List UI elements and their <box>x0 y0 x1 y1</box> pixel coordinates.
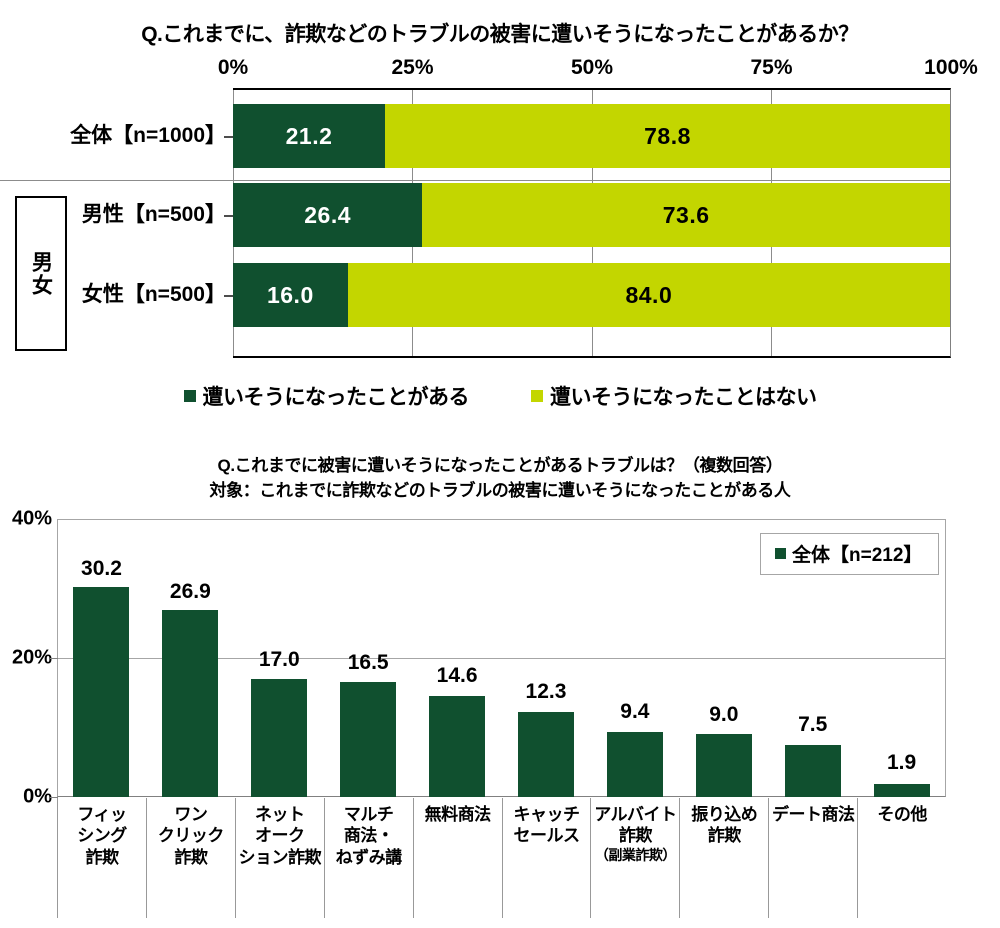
cat-line: ション詐欺 <box>236 847 324 868</box>
cat-line: 詐欺 <box>680 825 768 846</box>
cat-line: オーク <box>236 825 324 846</box>
bar-segment-female-yes: 16.0 <box>233 263 348 327</box>
category-label-part-time-job-scam: アルバイト 詐欺 （副業詐欺） <box>590 798 679 918</box>
bar-chart-trouble-types: Q.これまでに被害に遭いそうになったことがあるトラブルは？（複数回答） 対象：こ… <box>0 430 1000 928</box>
bar-value-label: 16.5 <box>348 651 389 675</box>
chart2-y-axis-labels: 40% 20% 0% <box>0 519 53 797</box>
cat-line: その他 <box>858 804 946 825</box>
bar-column-part-time-job-scam: 9.4 <box>590 519 679 797</box>
bar-segment-total-no: 78.8 <box>385 104 950 168</box>
cat-line: キャッチ <box>503 804 591 825</box>
bar-one-click <box>162 610 218 797</box>
chart2-subtitle: 対象：これまでに詐欺などのトラブルの被害に遭いそうになったことがある人 <box>0 479 1000 504</box>
bar-bank-transfer-scam <box>696 734 752 797</box>
category-label-date-sales: デート商法 <box>768 798 857 918</box>
bar-value-label: 1.9 <box>887 751 916 775</box>
gender-group-label: 男女 <box>31 251 52 297</box>
chart2-category-axis: フィッ シング 詐欺 ワン クリック 詐欺 ネット オーク ション詐欺 マルチ … <box>57 798 946 918</box>
cat-line: ネット <box>236 804 324 825</box>
bar-catch-sales <box>518 712 574 798</box>
bar-multi-level <box>340 682 396 797</box>
chart1-plot-area: 21.2 78.8 26.4 73.6 16.0 84.0 <box>233 88 951 358</box>
bar-column-net-auction: 17.0 <box>235 519 324 797</box>
chart2-legend: 全体【n=212】 <box>760 533 939 575</box>
category-label-bank-transfer-scam: 振り込め 詐欺 <box>679 798 768 918</box>
category-label-other: その他 <box>857 798 946 918</box>
category-label-phishing: フィッ シング 詐欺 <box>57 798 146 918</box>
cat-line-sub: （副業詐欺） <box>591 847 679 865</box>
legend-label-no: 遭いそうになったことはない <box>550 381 817 411</box>
cat-line: ワン <box>147 804 235 825</box>
bar-value-label: 9.0 <box>709 703 738 727</box>
bar-free-offer <box>429 696 485 798</box>
stacked-bar-chart-gender: Q.これまでに、詐欺などのトラブルの被害に遭いそうになったことがあるか？ 0% … <box>0 0 1000 430</box>
cat-line: 商法・ <box>325 825 413 846</box>
bar-value-label: 12.3 <box>526 680 567 704</box>
legend-swatch-no-icon <box>531 390 543 402</box>
bar-column-free-offer: 14.6 <box>413 519 502 797</box>
bar-row-total: 21.2 78.8 <box>233 104 950 168</box>
bar-segment-female-no: 84.0 <box>348 263 950 327</box>
cat-line: 詐欺 <box>147 847 235 868</box>
bar-column-multi-level: 16.5 <box>324 519 413 797</box>
bar-column-one-click: 26.9 <box>146 519 235 797</box>
bar-value-label: 7.5 <box>798 713 827 737</box>
category-label-free-offer: 無料商法 <box>413 798 502 918</box>
x-tick-label-25: 25% <box>391 56 433 80</box>
legend-item-no: 遭いそうになったことはない <box>531 381 817 411</box>
x-tick-label-100: 100% <box>924 56 978 80</box>
bar-row-female: 16.0 84.0 <box>233 263 950 327</box>
legend-label-yes: 遭いそうになったことがある <box>203 381 470 411</box>
cat-line: クリック <box>147 825 235 846</box>
chart2-title: Q.これまでに被害に遭いそうになったことがあるトラブルは？（複数回答） <box>0 454 1000 479</box>
cat-line: ねずみ講 <box>325 847 413 868</box>
cat-line: マルチ <box>325 804 413 825</box>
group-separator-line <box>0 180 951 181</box>
category-label-net-auction: ネット オーク ション詐欺 <box>235 798 324 918</box>
cat-line: 振り込め <box>680 804 768 825</box>
x-tick-label-50: 50% <box>571 56 613 80</box>
legend-label-total: 全体【n=212】 <box>792 540 922 567</box>
bar-segment-total-yes: 21.2 <box>233 104 385 168</box>
gender-group-box: 男女 <box>15 196 67 351</box>
y-tick-label-20: 20% <box>12 647 52 670</box>
bar-value-label: 30.2 <box>81 557 122 581</box>
bar-date-sales <box>785 745 841 797</box>
bar-column-catch-sales: 12.3 <box>502 519 591 797</box>
category-label-catch-sales: キャッチ セールス <box>502 798 591 918</box>
cat-line: 無料商法 <box>414 804 502 825</box>
bar-value-label: 17.0 <box>259 648 300 672</box>
row-label-total: 全体【n=1000】 <box>70 119 226 149</box>
bar-net-auction <box>251 679 307 797</box>
chart2-title-block: Q.これまでに被害に遭いそうになったことがあるトラブルは？（複数回答） 対象：こ… <box>0 454 1000 503</box>
bar-other <box>874 784 930 797</box>
cat-line: セールス <box>503 825 591 846</box>
chart1-title: Q.これまでに、詐欺などのトラブルの被害に遭いそうになったことがあるか？ <box>0 18 1000 48</box>
legend-swatch-yes-icon <box>184 390 196 402</box>
x-tick-label-75: 75% <box>750 56 792 80</box>
row-label-male: 男性【n=500】 <box>82 198 226 228</box>
cat-line: アルバイト <box>591 804 679 825</box>
chart1-x-axis-labels: 0% 25% 50% 75% 100% <box>233 56 951 82</box>
bar-value-label: 9.4 <box>620 700 649 724</box>
category-label-multi-level: マルチ 商法・ ねずみ講 <box>324 798 413 918</box>
bar-column-bank-transfer-scam: 9.0 <box>679 519 768 797</box>
legend-swatch-icon <box>775 548 786 559</box>
bar-phishing <box>73 587 129 797</box>
bar-part-time-job-scam <box>607 732 663 797</box>
y-tick-label-40: 40% <box>12 508 52 531</box>
bar-segment-male-yes: 26.4 <box>233 183 422 247</box>
cat-line: デート商法 <box>769 804 857 825</box>
bar-value-label: 26.9 <box>170 580 211 604</box>
row-label-female: 女性【n=500】 <box>82 278 226 308</box>
y-tick-label-0: 0% <box>23 786 52 809</box>
bar-column-phishing: 30.2 <box>57 519 146 797</box>
category-label-one-click: ワン クリック 詐欺 <box>146 798 235 918</box>
bar-value-label: 14.6 <box>437 664 478 688</box>
bar-segment-male-no: 73.6 <box>422 183 950 247</box>
cat-line: フィッ <box>58 804 146 825</box>
x-tick-label-0: 0% <box>218 56 248 80</box>
bar-row-male: 26.4 73.6 <box>233 183 950 247</box>
cat-line: シング <box>58 825 146 846</box>
legend-item-yes: 遭いそうになったことがある <box>184 381 470 411</box>
chart1-legend: 遭いそうになったことがある 遭いそうになったことはない <box>0 381 1000 411</box>
cat-line: 詐欺 <box>58 847 146 868</box>
cat-line: 詐欺 <box>591 825 679 846</box>
